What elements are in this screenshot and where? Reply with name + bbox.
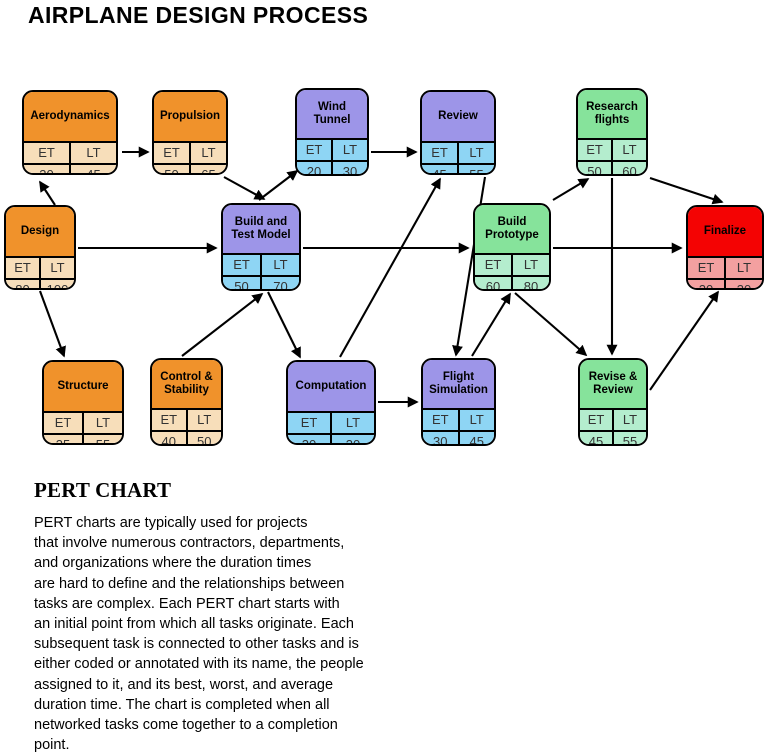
- node-header-row: ETLT: [154, 143, 226, 165]
- node-review[interactable]: ReviewETLT4555: [420, 90, 496, 175]
- lt-header: LT: [188, 410, 222, 430]
- et-header: ET: [688, 258, 726, 278]
- edge-research-to-finalize: [650, 178, 722, 202]
- node-design[interactable]: DesignETLT80100: [4, 205, 76, 290]
- node-header-row: ETLT: [44, 413, 122, 435]
- lt-value: 80: [513, 277, 549, 291]
- edge-build-test-to-wind-tunnel: [259, 171, 297, 200]
- lt-value: 30: [332, 435, 374, 445]
- node-header-row: ETLT: [24, 143, 116, 165]
- et-value: 40: [152, 432, 188, 446]
- node-title: Researchflights: [578, 90, 646, 140]
- node-build-test[interactable]: Build andTest ModelETLT5070: [221, 203, 301, 291]
- node-title: Propulsion: [154, 92, 226, 143]
- lt-header: LT: [613, 140, 646, 160]
- node-aerodynamics[interactable]: AerodynamicsETLT3045: [22, 90, 118, 175]
- lt-value: 30: [726, 280, 762, 290]
- et-header: ET: [422, 143, 459, 163]
- lt-value: 50: [188, 432, 222, 446]
- node-value-row: 3045: [423, 432, 494, 446]
- lt-header: LT: [460, 410, 495, 430]
- et-header: ET: [475, 255, 513, 275]
- et-value: 45: [580, 432, 614, 446]
- et-header: ET: [154, 143, 191, 163]
- node-propulsion[interactable]: PropulsionETLT5065: [152, 90, 228, 175]
- et-value: 20: [288, 435, 332, 445]
- node-research[interactable]: ResearchflightsETLT5060: [576, 88, 648, 176]
- node-title: Design: [6, 207, 74, 258]
- node-value-row: 80100: [6, 280, 74, 290]
- node-flight-sim[interactable]: FlightSimulationETLT3045: [421, 358, 496, 446]
- node-control[interactable]: Control &StabilityETLT4050: [150, 358, 223, 446]
- node-value-row: 2030: [688, 280, 762, 290]
- edge-build-proto-to-research: [553, 179, 588, 200]
- pert-chart-heading: PERT CHART: [34, 478, 454, 503]
- node-header-row: ETLT: [578, 140, 646, 162]
- node-value-row: 4050: [152, 432, 221, 446]
- node-header-row: ETLT: [422, 143, 494, 165]
- edge-design-to-structure: [40, 291, 64, 356]
- edge-build-proto-to-revise: [515, 293, 586, 355]
- node-title: FlightSimulation: [423, 360, 494, 410]
- lt-value: 100: [41, 280, 74, 290]
- edge-revise-to-finalize: [650, 292, 718, 390]
- lt-header: LT: [513, 255, 549, 275]
- edge-build-test-to-computation: [268, 292, 300, 357]
- et-header: ET: [152, 410, 188, 430]
- node-wind-tunnel[interactable]: WindTunnelETLT2030: [295, 88, 369, 176]
- node-value-row: 5070: [223, 277, 299, 291]
- node-header-row: ETLT: [475, 255, 549, 277]
- lt-header: LT: [459, 143, 494, 163]
- et-value: 35: [44, 435, 84, 445]
- lt-value: 55: [614, 432, 646, 446]
- et-value: 80: [6, 280, 41, 290]
- et-header: ET: [580, 410, 614, 430]
- et-value: 45: [422, 165, 459, 175]
- node-header-row: ETLT: [223, 255, 299, 277]
- pert-description-section: PERT CHART PERT charts are typically use…: [34, 478, 454, 755]
- edge-propulsion-to-build-test: [224, 177, 264, 199]
- node-finalize[interactable]: FinalizeETLT2030: [686, 205, 764, 290]
- node-value-row: 3045: [24, 165, 116, 175]
- node-title: Computation: [288, 362, 374, 413]
- lt-header: LT: [726, 258, 762, 278]
- lt-value: 55: [84, 435, 122, 445]
- et-value: 50: [578, 162, 613, 176]
- lt-value: 30: [333, 162, 367, 176]
- edge-flight-sim-to-build-proto: [472, 294, 510, 356]
- et-header: ET: [423, 410, 460, 430]
- node-value-row: 2030: [297, 162, 367, 176]
- lt-header: LT: [71, 143, 116, 163]
- node-title: BuildPrototype: [475, 205, 549, 255]
- lt-header: LT: [333, 140, 367, 160]
- pert-diagram: AerodynamicsETLT3045PropulsionETLT5065Wi…: [0, 0, 767, 470]
- node-title: Structure: [44, 362, 122, 413]
- node-title: Control &Stability: [152, 360, 221, 410]
- et-value: 30: [24, 165, 71, 175]
- node-title: Finalize: [688, 207, 762, 258]
- node-title: WindTunnel: [297, 90, 367, 140]
- et-header: ET: [44, 413, 84, 433]
- node-title: Aerodynamics: [24, 92, 116, 143]
- edge-design-to-aerodynamics: [40, 182, 55, 205]
- node-computation[interactable]: ComputationETLT2030: [286, 360, 376, 445]
- node-title: Review: [422, 92, 494, 143]
- lt-value: 60: [613, 162, 646, 176]
- pert-chart-body-text: PERT charts are typically used for proje…: [34, 513, 454, 755]
- lt-header: LT: [262, 255, 299, 275]
- edge-computation-to-review: [340, 179, 440, 357]
- et-header: ET: [6, 258, 41, 278]
- node-header-row: ETLT: [288, 413, 374, 435]
- lt-header: LT: [191, 143, 226, 163]
- lt-header: LT: [332, 413, 374, 433]
- node-value-row: 5065: [154, 165, 226, 175]
- node-header-row: ETLT: [297, 140, 367, 162]
- edge-control-to-build-test: [182, 294, 262, 356]
- node-title: Revise &Review: [580, 360, 646, 410]
- lt-header: LT: [41, 258, 74, 278]
- lt-value: 45: [460, 432, 495, 446]
- node-value-row: 3555: [44, 435, 122, 445]
- et-header: ET: [223, 255, 262, 275]
- node-value-row: 4555: [580, 432, 646, 446]
- et-header: ET: [578, 140, 613, 160]
- lt-value: 65: [191, 165, 226, 175]
- et-value: 50: [154, 165, 191, 175]
- lt-value: 55: [459, 165, 494, 175]
- et-value: 20: [688, 280, 726, 290]
- et-value: 20: [297, 162, 333, 176]
- node-structure[interactable]: StructureETLT3555: [42, 360, 124, 445]
- node-build-proto[interactable]: BuildPrototypeETLT6080: [473, 203, 551, 291]
- et-value: 50: [223, 277, 262, 291]
- node-header-row: ETLT: [580, 410, 646, 432]
- node-value-row: 6080: [475, 277, 549, 291]
- lt-value: 70: [262, 277, 299, 291]
- lt-header: LT: [84, 413, 122, 433]
- node-value-row: 5060: [578, 162, 646, 176]
- et-value: 60: [475, 277, 513, 291]
- node-title: Build andTest Model: [223, 205, 299, 255]
- lt-value: 45: [71, 165, 116, 175]
- node-value-row: 4555: [422, 165, 494, 175]
- et-header: ET: [288, 413, 332, 433]
- node-header-row: ETLT: [688, 258, 762, 280]
- node-value-row: 2030: [288, 435, 374, 445]
- et-header: ET: [297, 140, 333, 160]
- lt-header: LT: [614, 410, 646, 430]
- et-value: 30: [423, 432, 460, 446]
- node-revise[interactable]: Revise &ReviewETLT4555: [578, 358, 648, 446]
- node-header-row: ETLT: [423, 410, 494, 432]
- node-header-row: ETLT: [6, 258, 74, 280]
- et-header: ET: [24, 143, 71, 163]
- node-header-row: ETLT: [152, 410, 221, 432]
